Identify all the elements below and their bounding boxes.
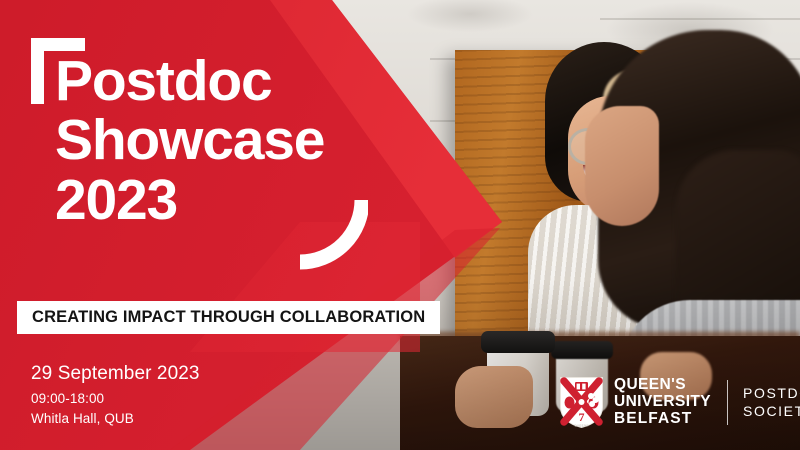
university-line-3: BELFAST — [614, 411, 711, 428]
title-line-2: Showcase — [55, 111, 385, 170]
university-line-2: UNIVERSITY — [614, 394, 711, 411]
logo-lockup: 7 QUEENS QUEEN'S UNIVERSITY BELFAST POST… — [559, 376, 800, 429]
svg-text:QUEENS: QUEENS — [574, 423, 588, 427]
svg-text:7: 7 — [579, 410, 585, 424]
tagline-banner: CREATING IMPACT THROUGH COLLABORATION — [17, 301, 440, 334]
queens-university-crest-icon: 7 QUEENS — [559, 376, 604, 429]
tagline-text: CREATING IMPACT THROUGH COLLABORATION — [32, 308, 425, 327]
event-date: 29 September 2023 — [31, 362, 200, 386]
title-line-1: Postdoc — [55, 52, 385, 111]
corner-bracket-vertical — [31, 38, 44, 104]
event-time: 09:00-18:00 — [31, 390, 200, 408]
postdoc-showcase-poster: Postdoc Showcase 2023 CREATING IMPACT TH… — [0, 0, 800, 450]
logo-divider — [727, 380, 728, 425]
society-line-2: SOCIETY — [743, 403, 800, 421]
event-venue: Whitla Hall, QUB — [31, 410, 200, 428]
university-wordmark: QUEEN'S UNIVERSITY BELFAST — [614, 377, 711, 427]
event-details: 29 September 2023 09:00-18:00 Whitla Hal… — [31, 362, 200, 428]
society-wordmark: POSTDOC SOCIETY — [743, 385, 800, 420]
arc-swoosh-icon — [292, 196, 368, 274]
university-line-1: QUEEN'S — [614, 377, 711, 394]
society-line-1: POSTDOC — [743, 385, 800, 403]
